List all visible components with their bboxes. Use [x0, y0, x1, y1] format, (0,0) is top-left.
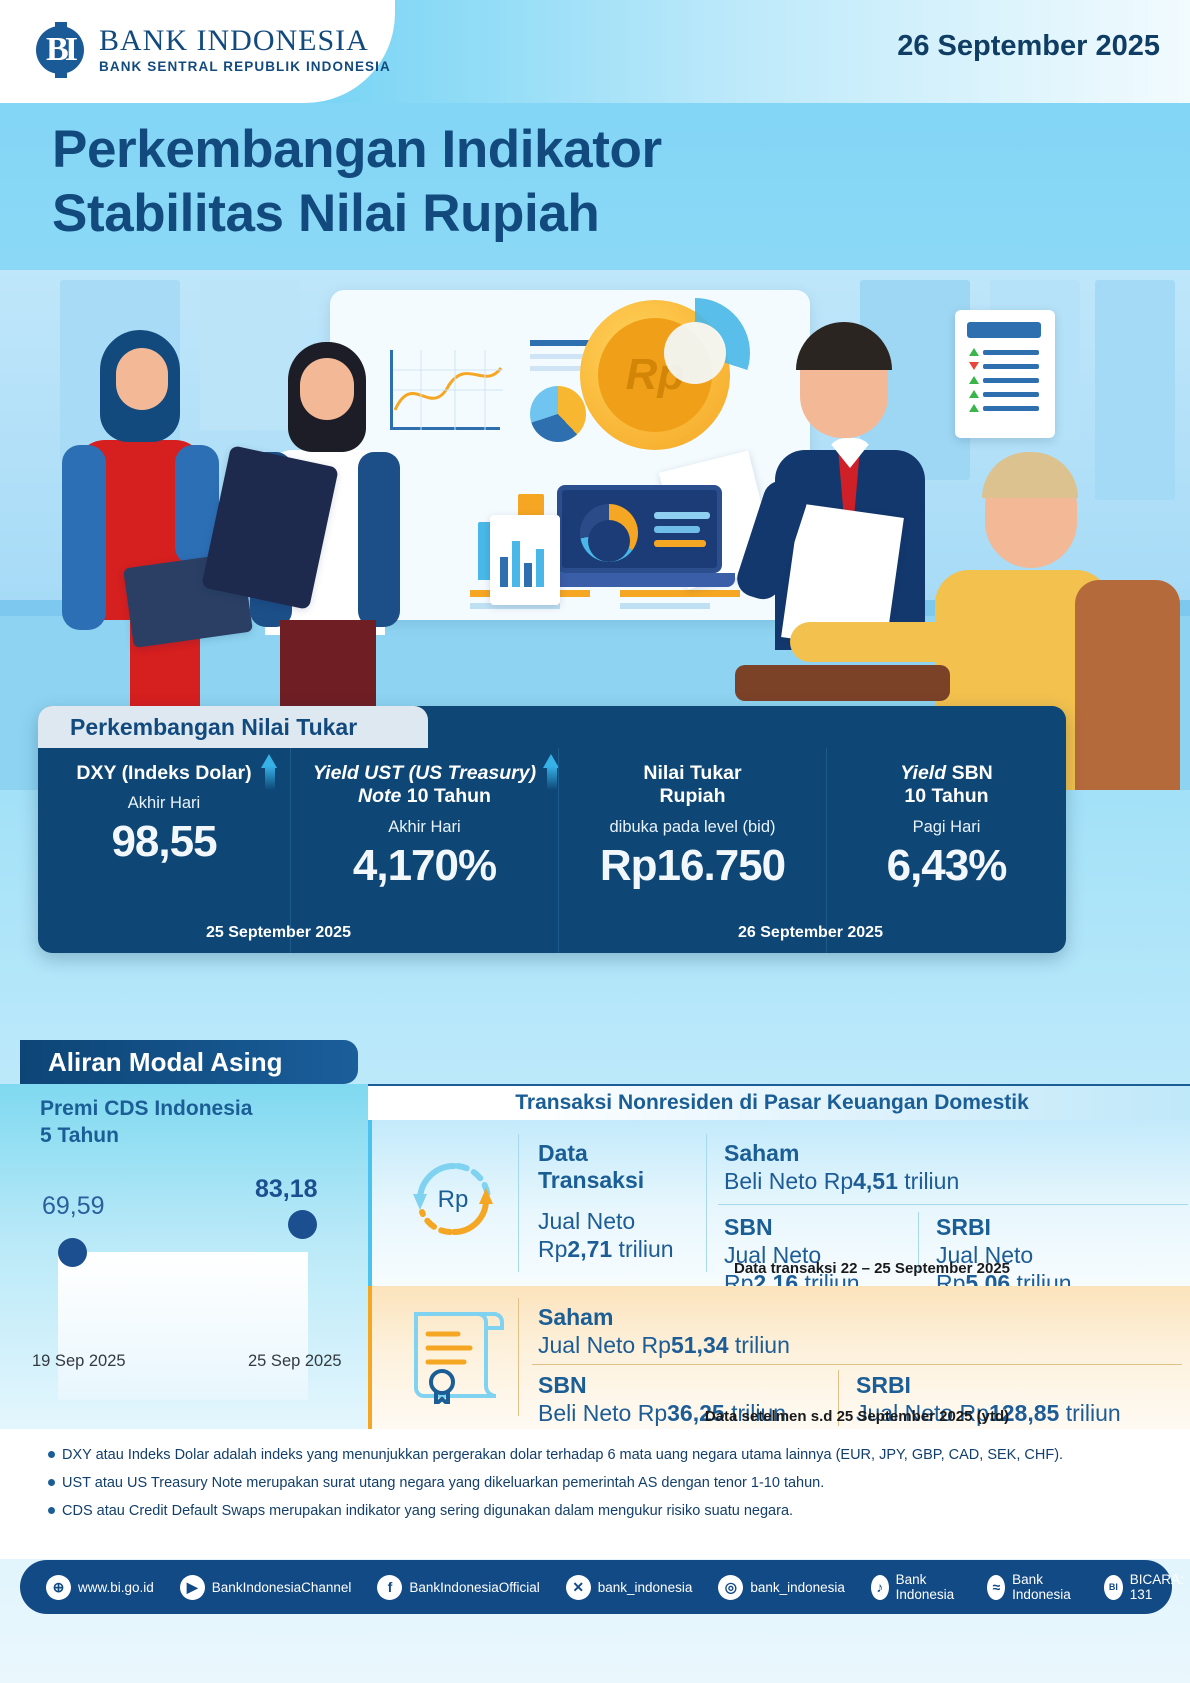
instagram-icon: ◎ [718, 1575, 743, 1600]
social-label: BICARA: 131 [1130, 1572, 1190, 1602]
srbi-blue-label: SRBI [936, 1214, 991, 1240]
saham-orange-post: triliun [729, 1332, 790, 1358]
data-transaksi-pre: Rp [538, 1236, 567, 1262]
x-twitter-icon: ✕ [566, 1575, 591, 1600]
saham-orange-label: Saham [538, 1304, 613, 1330]
note-item: DXY atau Indeks Dolar adalah indeks yang… [62, 1447, 1063, 1463]
aliran-modal-asing-tab: Aliran Modal Asing [20, 1040, 358, 1084]
social-label: Bank Indonesia [896, 1572, 962, 1602]
clipboard-icon [955, 310, 1055, 438]
note-text: UST atau US Treasury Note merupakan sura… [62, 1475, 824, 1491]
note-item: UST atau US Treasury Note merupakan sura… [62, 1475, 824, 1491]
social-label: bank_indonesia [750, 1580, 845, 1595]
laptop-icon [545, 485, 735, 595]
nilai-tukar-tab-label: Perkembangan Nilai Tukar [70, 714, 357, 741]
tiktok-icon: ♪ [871, 1575, 889, 1600]
metric-sbn-sub: Pagi Hari [827, 818, 1066, 837]
divider [518, 1134, 519, 1272]
saham-blue-amount: 4,51 [853, 1168, 898, 1194]
cds-x-label-start: 19 Sep 2025 [32, 1352, 126, 1371]
sbn-orange-label: SBN [538, 1372, 587, 1398]
srbi-orange-label: SRBI [856, 1372, 911, 1398]
note-item: CDS atau Credit Default Swaps merupakan … [62, 1503, 793, 1519]
cds-value-end: 83,18 [255, 1175, 318, 1204]
data-transaksi-l1: Data [538, 1140, 588, 1166]
line-chart-icon [393, 350, 503, 430]
nilai-tukar-date-right: 26 September 2025 [738, 924, 883, 942]
nilai-tukar-date-left: 25 September 2025 [206, 924, 351, 942]
transaksi-blue-footer: Data transaksi 22 – 25 September 2025 [572, 1260, 1172, 1277]
social-bar: ⊕ www.bi.go.id ▶ BankIndonesiaChannel f … [20, 1560, 1172, 1614]
metric-sbn-value: 6,43% [827, 841, 1066, 891]
cds-title: Premi CDS Indonesia 5 Tahun [40, 1096, 252, 1150]
social-item-x[interactable]: ✕ bank_indonesia [566, 1575, 693, 1600]
transaksi-orange-block: Saham Jual Neto Rp51,34 triliun SBN Beli… [368, 1286, 1190, 1429]
metric-sbn-label2: 10 Tahun [827, 785, 1066, 808]
srbi-blue-col: SRBI Jual Neto Rp5,06 triliun [936, 1214, 1136, 1297]
metric-kurs-value: Rp16.750 [559, 841, 826, 891]
metric-dxy-sub: Akhir Hari [38, 794, 290, 813]
cds-x-label-end: 25 Sep 2025 [248, 1352, 342, 1371]
metric-ust-label2b: 10 Tahun [407, 785, 491, 807]
data-transaksi-col: Data Transaksi Jual Neto Rp2,71 triliun [538, 1140, 688, 1263]
cds-point-start [58, 1238, 87, 1267]
social-label: bank_indonesia [598, 1580, 693, 1595]
youtube-icon: ▶ [180, 1575, 205, 1600]
metric-ust-value: 4,170% [291, 841, 558, 891]
transaksi-nonresiden-section: Transaksi Nonresiden di Pasar Keuangan D… [368, 1084, 1190, 1429]
cds-title-line1: Premi CDS Indonesia [40, 1096, 252, 1123]
social-item-spotify[interactable]: ≈ Bank Indonesia [987, 1572, 1078, 1602]
cds-point-end [288, 1210, 317, 1239]
donut-chart-icon [640, 298, 750, 408]
infographic-page: BI BANK INDONESIA BANK SENTRAL REPUBLIK … [0, 0, 1190, 1683]
saham-blue-post: triliun [898, 1168, 959, 1194]
data-transaksi-amount: 2,71 [567, 1236, 612, 1262]
note-text: CDS atau Credit Default Swaps merupakan … [62, 1503, 793, 1519]
social-item-tiktok[interactable]: ♪ Bank Indonesia [871, 1572, 962, 1602]
sbn-blue-label: SBN [724, 1214, 773, 1240]
header-date: 26 September 2025 [897, 30, 1160, 63]
sbn-blue-col: SBN Jual Neto Rp2,16 triliun [724, 1214, 904, 1297]
data-transaksi-l2: Transaksi [538, 1167, 644, 1193]
transaksi-header: Transaksi Nonresiden di Pasar Keuangan D… [368, 1084, 1190, 1120]
cds-line-chart [0, 0, 368, 345]
saham-blue-col: Saham Beli Neto Rp4,51 triliun [724, 1140, 1144, 1195]
note-text: DXY atau Indeks Dolar adalah indeks yang… [62, 1447, 1063, 1463]
social-label: www.bi.go.id [78, 1580, 154, 1595]
social-label: BankIndonesiaChannel [212, 1580, 352, 1595]
metric-sbn-label-italic: Yield [900, 762, 946, 784]
globe-icon: ⊕ [46, 1575, 71, 1600]
spotify-icon: ≈ [987, 1575, 1005, 1600]
social-label: BankIndonesiaOfficial [409, 1580, 539, 1595]
document-certificate-icon [408, 1304, 504, 1404]
metric-ust-sub: Akhir Hari [291, 818, 558, 837]
transaksi-blue-block: Rp Data Transaksi Jual Neto Rp2,71 trili… [368, 1120, 1190, 1286]
rupiah-cycle-icon: Rp [400, 1142, 506, 1248]
divider [718, 1204, 1188, 1205]
metric-dxy-label: DXY (Indeks Dolar) [76, 762, 251, 784]
aliran-modal-asing-label: Aliran Modal Asing [48, 1047, 283, 1078]
data-transaksi-jual-neto: Jual Neto [538, 1208, 635, 1234]
metric-kurs-label: Nilai Tukar [559, 762, 826, 785]
saham-orange-amount: 51,34 [671, 1332, 729, 1358]
transaksi-orange-footer: Data setelmen s.d 25 September 2025 (ytd… [532, 1408, 1182, 1425]
facebook-icon: f [377, 1575, 402, 1600]
divider [518, 1298, 519, 1416]
saham-orange-col: Saham Jual Neto Rp51,34 triliun [538, 1304, 1098, 1359]
data-transaksi-post: triliun [612, 1236, 673, 1262]
transaksi-header-label: Transaksi Nonresiden di Pasar Keuangan D… [368, 1091, 1190, 1115]
notes-section: DXY atau Indeks Dolar adalah indeks yang… [0, 1429, 1190, 1559]
pie-chart-icon [530, 386, 586, 442]
metric-sbn-label: SBN [952, 762, 993, 784]
arrow-up-icon [261, 754, 278, 790]
social-label: Bank Indonesia [1012, 1572, 1078, 1602]
nilai-tukar-tab: Perkembangan Nilai Tukar [38, 706, 428, 748]
saham-blue-label: Saham [724, 1140, 799, 1166]
cds-value-start: 69,59 [42, 1192, 105, 1221]
metric-kurs-label2: Rupiah [559, 785, 826, 808]
metric-ust-label2: Note [358, 785, 401, 807]
saham-blue-pre: Beli Neto Rp [724, 1168, 853, 1194]
social-item-bicara[interactable]: BI BICARA: 131 [1104, 1572, 1190, 1602]
social-item-facebook[interactable]: f BankIndonesiaOfficial [377, 1575, 539, 1600]
cds-plot-area [58, 1252, 308, 1400]
metric-ust-label: Yield UST (US Treasury) [313, 762, 536, 784]
metric-kurs-sub: dibuka pada level (bid) [559, 818, 826, 837]
cds-title-line2: 5 Tahun [40, 1123, 252, 1150]
social-item-website[interactable]: ⊕ www.bi.go.id [46, 1575, 154, 1600]
divider [706, 1134, 707, 1272]
divider [532, 1364, 1182, 1365]
nilai-tukar-dates: 25 September 2025 26 September 2025 [38, 918, 1066, 953]
metric-dxy-value: 98,55 [38, 817, 290, 867]
social-item-youtube[interactable]: ▶ BankIndonesiaChannel [180, 1575, 352, 1600]
svg-text:Rp: Rp [438, 1186, 469, 1213]
bicara-icon: BI [1104, 1575, 1123, 1600]
saham-orange-pre: Jual Neto Rp [538, 1332, 671, 1358]
social-item-instagram[interactable]: ◎ bank_indonesia [718, 1575, 845, 1600]
report-paper [490, 515, 560, 605]
